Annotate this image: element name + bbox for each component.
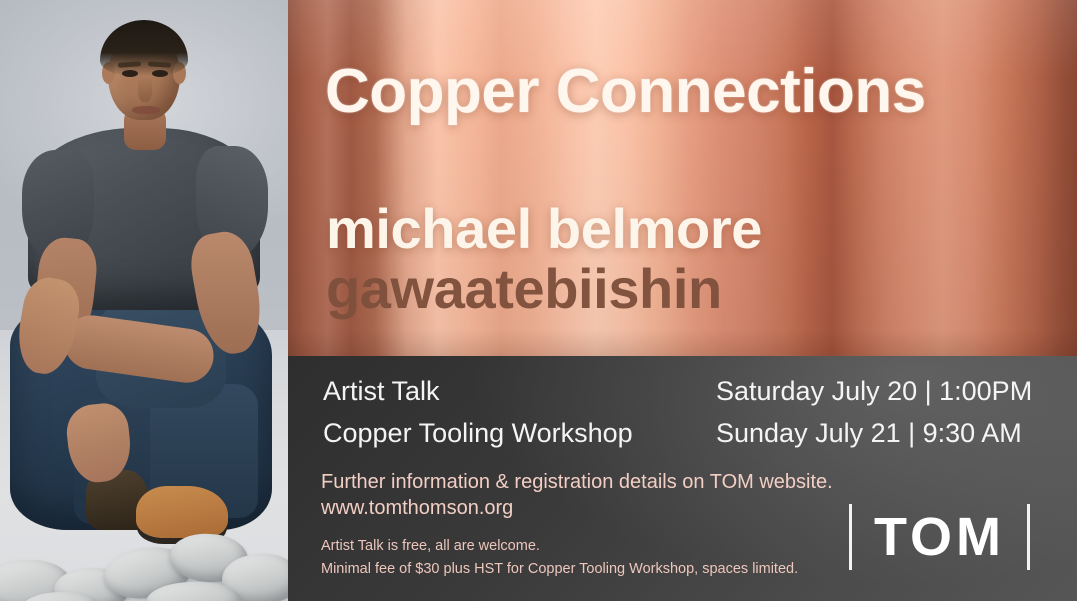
event-date-artist-talk: Saturday July 20 | 1:00PM xyxy=(716,376,1032,407)
figure-mouth xyxy=(132,106,160,114)
tom-logo[interactable]: TOM xyxy=(849,504,1030,570)
artist-subtitle: gawaatebiishin xyxy=(326,256,722,321)
fineprint: Artist Talk is free, all are welcome. Mi… xyxy=(321,535,798,582)
fineprint-line-workshop-fee: Minimal fee of $30 plus HST for Copper T… xyxy=(321,558,798,581)
figure-left-eye xyxy=(122,70,138,77)
event-poster: Copper Connections michael belmore gawaa… xyxy=(0,0,1077,601)
event-label-artist-talk: Artist Talk xyxy=(323,376,440,407)
logo-left-bar-icon xyxy=(849,504,852,570)
fineprint-line-free-admission: Artist Talk is free, all are welcome. xyxy=(321,535,798,558)
event-label-copper-tooling-workshop: Copper Tooling Workshop xyxy=(323,418,633,449)
figure-right-eye xyxy=(152,70,168,77)
photo-figure xyxy=(0,0,288,601)
logo-right-bar-icon xyxy=(1027,504,1030,570)
event-date-copper-tooling-workshop: Sunday July 21 | 9:30 AM xyxy=(716,418,1022,449)
figure-hair xyxy=(100,20,188,76)
event-details-panel: Artist Talk Saturday July 20 | 1:00PM Co… xyxy=(288,356,1077,601)
artist-name: michael belmore xyxy=(326,196,762,261)
registration-info-line: Further information & registration detai… xyxy=(321,470,833,496)
registration-info: Further information & registration detai… xyxy=(321,470,833,521)
artist-photo xyxy=(0,0,288,601)
page-title: Copper Connections xyxy=(325,56,926,127)
website-url[interactable]: www.tomthomson.org xyxy=(321,496,833,522)
figure-tan-shoe xyxy=(136,486,228,538)
figure-nose xyxy=(138,76,152,102)
logo-wordmark: TOM xyxy=(874,510,1005,564)
